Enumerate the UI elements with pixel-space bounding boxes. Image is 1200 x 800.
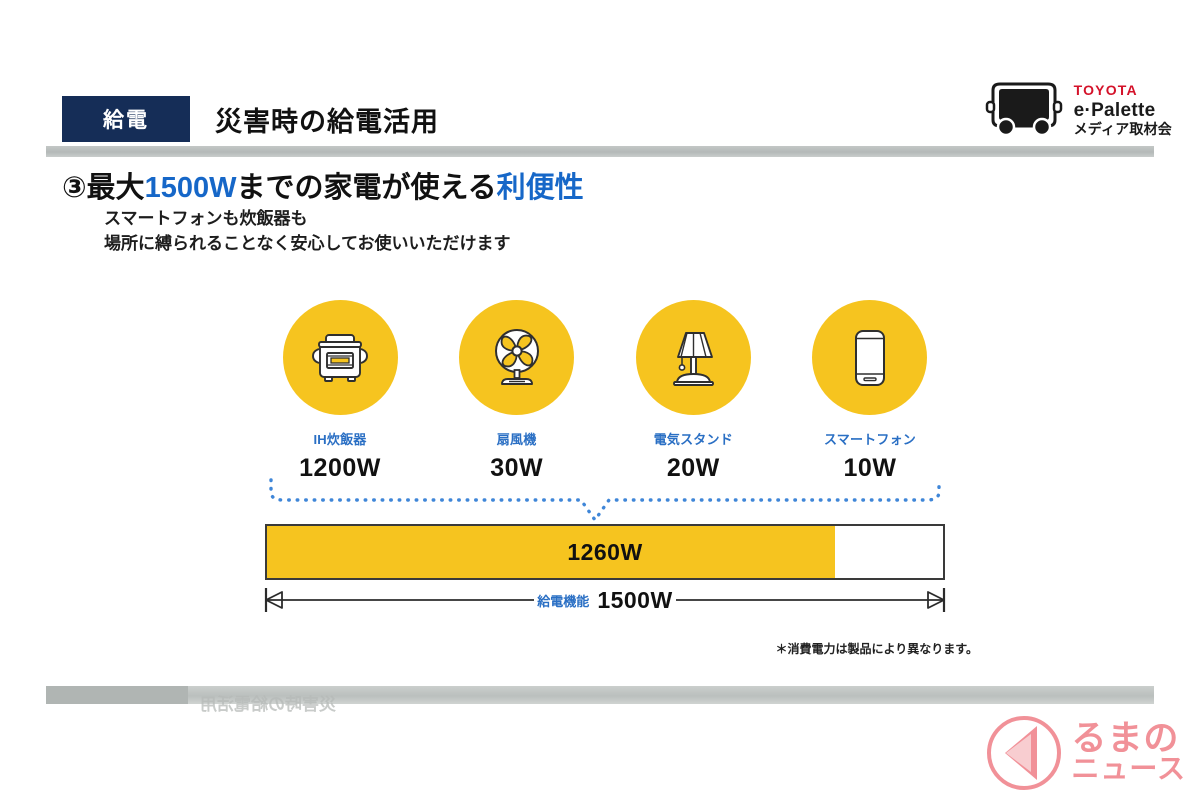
appliance-name: 扇風機: [497, 429, 537, 448]
electric-fan-icon: [484, 325, 550, 391]
bleed-through-rule-dark: [46, 686, 188, 704]
appliance-item-desk-lamp: 電気スタンド 20W: [618, 300, 768, 483]
appliance-list: IH炊飯器 1200W: [265, 300, 945, 483]
appliance-name: 電気スタンド: [654, 429, 733, 448]
epalette-vehicle-icon: [983, 80, 1065, 138]
smartphone-icon: [837, 325, 903, 391]
footnote: ＊消費電力は製品により異なります。: [775, 640, 978, 657]
slide-canvas: 給電 災害時の給電活用 TOYOTA e·Palette メディア取材会 ③最大…: [0, 0, 1200, 800]
headline-power-highlight: 1500W: [145, 172, 237, 204]
header-badge-label: 給電: [103, 104, 149, 134]
rice-cooker-icon: [307, 325, 373, 391]
watermark-line-2: ニュース: [1071, 756, 1186, 782]
logo-brand: TOYOTA: [1074, 82, 1138, 98]
kuruma-news-wordmark: るまの ニュース: [1071, 723, 1186, 782]
dotted-bracket-connector: [265, 478, 945, 524]
kuruma-news-watermark: るまの ニュース: [985, 714, 1186, 792]
capacity-dimension-line: [258, 586, 952, 614]
headline-middle: までの家電が使える: [236, 172, 496, 204]
epalette-logo: TOYOTA e·Palette メディア取材会: [983, 80, 1172, 138]
appliance-icon-badge: [283, 300, 398, 415]
appliance-name: IH炊飯器: [313, 429, 366, 448]
appliance-item-rice-cooker: IH炊飯器 1200W: [265, 300, 415, 483]
headline-prefix: ③最大: [62, 172, 145, 204]
watermark-line-1: るまの: [1071, 723, 1186, 756]
headline: ③最大1500Wまでの家電が使える利便性: [62, 164, 584, 206]
appliance-name: スマートフォン: [824, 429, 916, 448]
headline-tail-highlight: 利便性: [497, 172, 584, 204]
appliance-item-electric-fan: 扇風機 30W: [442, 300, 592, 483]
desk-lamp-icon: [660, 325, 726, 391]
subtitle-line-2: 場所に縛られることなく安心してお使いいただけます: [104, 232, 510, 257]
logo-product: e·Palette: [1074, 101, 1172, 120]
logo-wordmark: TOYOTA e·Palette メディア取材会: [1074, 83, 1172, 136]
bleed-through-rule: [46, 686, 1154, 704]
header-category-badge: 給電: [62, 96, 190, 142]
logo-event: メディア取材会: [1074, 122, 1172, 136]
header-divider-rule: [46, 146, 1154, 157]
capacity-bar: 別途AC100Vコンセント対応 メディア取材会より 1260W: [265, 524, 945, 580]
appliance-item-smartphone: スマートフォン 10W: [795, 300, 945, 483]
subtitle-line-1: スマートフォンも炊飯器も: [104, 207, 510, 232]
kuruma-news-chevron-icon: [985, 714, 1063, 792]
subtitle: スマートフォンも炊飯器も 場所に縛られることなく安心してお使いいただけます: [104, 207, 510, 256]
appliance-icon-badge: [812, 300, 927, 415]
appliance-icon-badge: [636, 300, 751, 415]
page-title: 災害時の給電活用: [215, 100, 439, 139]
capacity-bar-used-label: 1260W: [267, 526, 943, 578]
appliance-icon-badge: [459, 300, 574, 415]
